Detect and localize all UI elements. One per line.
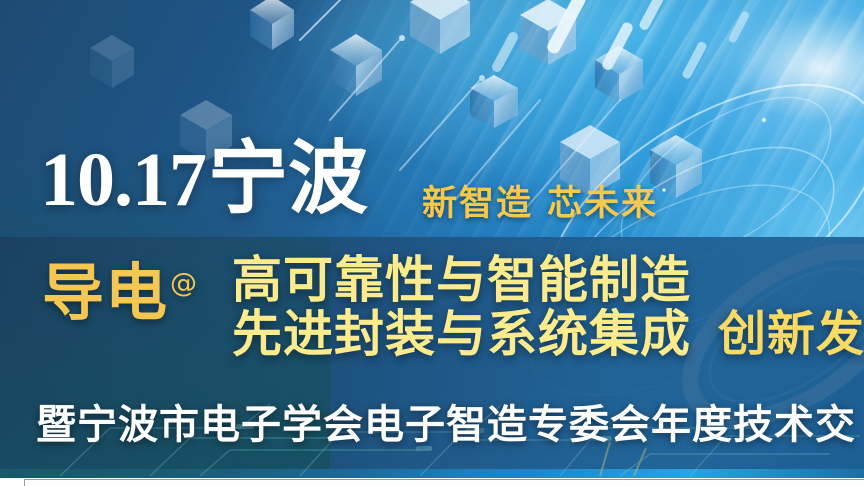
event-subtitle: 暨宁波市电子学会电子智造专委会年度技术交 bbox=[36, 392, 856, 450]
poster-banner: 10.17 宁波 新智造 芯未来 导电@ 高可靠性与智能制造 先进封装与系统集成… bbox=[0, 0, 864, 486]
brand-name: 导电@ bbox=[42, 262, 198, 324]
event-slogan: 新智造 芯未来 bbox=[422, 175, 658, 226]
brand-at-mark: @ bbox=[170, 268, 198, 299]
event-date: 10.17 bbox=[40, 144, 206, 216]
headline-line-2: 先进封装与系统集成 bbox=[232, 308, 691, 361]
headline-line-1: 高可靠性与智能制造 bbox=[232, 254, 691, 307]
bottom-sheet-inner bbox=[24, 479, 864, 486]
side-headline: 创新发 bbox=[718, 294, 864, 364]
event-city: 宁波 bbox=[208, 140, 368, 216]
event-date-row: 10.17 宁波 bbox=[40, 140, 368, 216]
brand-name-text: 导电 bbox=[42, 256, 168, 329]
